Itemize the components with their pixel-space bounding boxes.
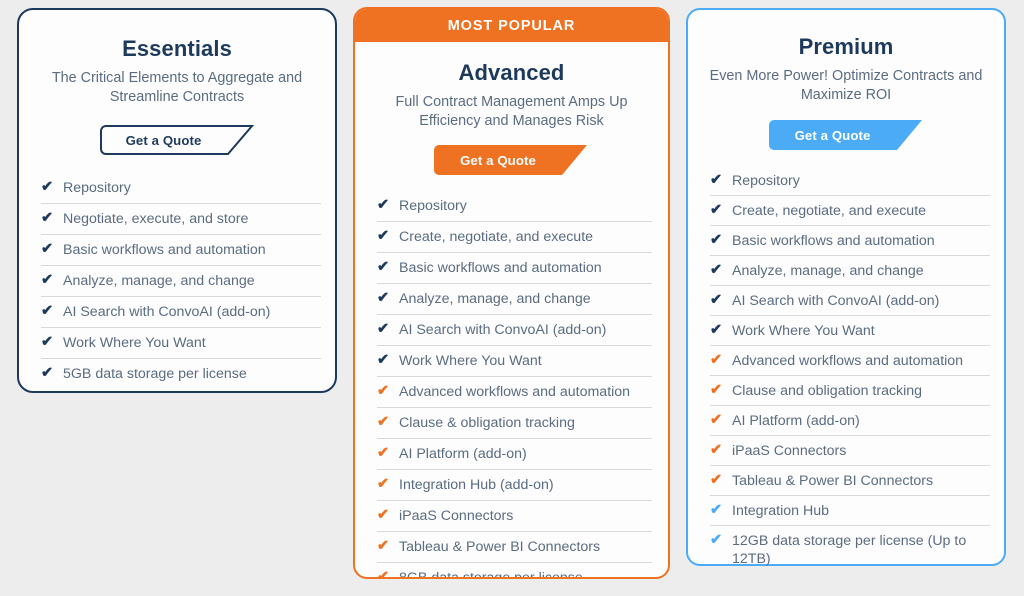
check-icon: ✔ — [710, 202, 732, 218]
plan-card-premium: Premium Even More Power! Optimize Contra… — [686, 8, 1006, 566]
plan-subtitle: Even More Power! Optimize Contracts and … — [702, 67, 990, 105]
check-icon: ✔ — [377, 259, 399, 275]
check-icon: ✔ — [710, 382, 732, 398]
feature-item: ✔Basic workflows and automation — [377, 252, 652, 283]
check-icon: ✔ — [41, 334, 63, 350]
feature-label: AI Search with ConvoAI (add-on) — [399, 321, 606, 339]
feature-item: ✔AI Platform (add-on) — [710, 405, 990, 435]
feature-label: Tableau & Power BI Connectors — [732, 472, 933, 490]
check-icon: ✔ — [377, 197, 399, 213]
check-icon: ✔ — [710, 412, 732, 428]
plan-header-premium: Premium Even More Power! Optimize Contra… — [688, 10, 1004, 105]
feature-item: ✔Advanced workflows and automation — [377, 376, 652, 407]
feature-item: ✔Advanced workflows and automation — [710, 345, 990, 375]
feature-item: ✔iPaaS Connectors — [710, 435, 990, 465]
get-a-quote-button-premium[interactable]: Get a Quote — [769, 120, 924, 150]
feature-item: ✔Basic workflows and automation — [41, 234, 321, 265]
check-icon: ✔ — [377, 445, 399, 461]
feature-list-premium: ✔Repository✔Create, negotiate, and execu… — [710, 166, 990, 573]
plan-title: Premium — [702, 34, 990, 60]
feature-item: ✔Repository — [41, 173, 321, 203]
button-ribbon-shape — [100, 125, 255, 155]
feature-label: Analyze, manage, and change — [399, 290, 591, 308]
check-icon: ✔ — [710, 322, 732, 338]
feature-label: Repository — [399, 197, 467, 215]
check-icon: ✔ — [710, 292, 732, 308]
feature-item: ✔Clause and obligation tracking — [710, 375, 990, 405]
plan-header-essentials: Essentials The Critical Elements to Aggr… — [19, 10, 335, 107]
plan-card-advanced: MOST POPULAR Advanced Full Contract Mana… — [353, 7, 670, 579]
check-icon: ✔ — [710, 532, 732, 548]
feature-item: ✔Clause & obligation tracking — [377, 407, 652, 438]
plan-header-advanced: Advanced Full Contract Management Amps U… — [355, 42, 668, 131]
feature-item: ✔8GB data storage per license — [377, 562, 652, 579]
check-icon: ✔ — [41, 303, 63, 319]
feature-item: ✔Create, negotiate, and execute — [377, 221, 652, 252]
feature-item: ✔Repository — [710, 166, 990, 195]
get-a-quote-button-essentials[interactable]: Get a Quote — [100, 125, 255, 155]
check-icon: ✔ — [710, 352, 732, 368]
feature-label: Repository — [732, 172, 800, 190]
most-popular-badge: MOST POPULAR — [355, 9, 668, 42]
feature-label: iPaaS Connectors — [732, 442, 846, 460]
feature-label: Tableau & Power BI Connectors — [399, 538, 600, 556]
plan-title: Essentials — [33, 36, 321, 62]
check-icon: ✔ — [41, 210, 63, 226]
feature-label: Clause and obligation tracking — [732, 382, 922, 400]
check-icon: ✔ — [41, 241, 63, 257]
feature-item: ✔Work Where You Want — [41, 327, 321, 358]
button-ribbon-shape — [434, 145, 589, 175]
feature-label: Advanced workflows and automation — [399, 383, 630, 401]
feature-item: ✔Basic workflows and automation — [710, 225, 990, 255]
feature-label: Create, negotiate, and execute — [732, 202, 926, 220]
feature-item: ✔Tableau & Power BI Connectors — [710, 465, 990, 495]
feature-label: AI Platform (add-on) — [732, 412, 860, 430]
check-icon: ✔ — [710, 472, 732, 488]
feature-label: Advanced workflows and automation — [732, 352, 963, 370]
plan-title: Advanced — [369, 60, 654, 86]
check-icon: ✔ — [377, 383, 399, 399]
feature-item: ✔Create, negotiate, and execute — [710, 195, 990, 225]
feature-item: ✔Integration Hub — [710, 495, 990, 525]
check-icon: ✔ — [377, 538, 399, 554]
check-icon: ✔ — [710, 172, 732, 188]
feature-label: Create, negotiate, and execute — [399, 228, 593, 246]
feature-label: AI Search with ConvoAI (add-on) — [63, 303, 270, 321]
feature-label: Work Where You Want — [63, 334, 206, 352]
feature-label: Basic workflows and automation — [732, 232, 935, 250]
check-icon: ✔ — [710, 262, 732, 278]
check-icon: ✔ — [710, 232, 732, 248]
check-icon: ✔ — [41, 272, 63, 288]
check-icon: ✔ — [377, 569, 399, 579]
feature-item: ✔Work Where You Want — [377, 345, 652, 376]
check-icon: ✔ — [377, 321, 399, 337]
feature-item: ✔5GB data storage per license — [41, 358, 321, 389]
feature-label: Basic workflows and automation — [399, 259, 602, 277]
feature-label: Analyze, manage, and change — [732, 262, 924, 280]
check-icon: ✔ — [377, 290, 399, 306]
check-icon: ✔ — [377, 414, 399, 430]
feature-label: 12GB data storage per license (Up to 12T… — [732, 532, 990, 568]
pricing-plans-container: Essentials The Critical Elements to Aggr… — [0, 0, 1024, 596]
feature-item: ✔Repository — [377, 191, 652, 221]
feature-item: ✔Integration Hub (add-on) — [377, 469, 652, 500]
feature-item: ✔Negotiate, execute, and store — [41, 203, 321, 234]
feature-label: AI Platform (add-on) — [399, 445, 527, 463]
feature-label: Analyze, manage, and change — [63, 272, 255, 290]
feature-label: 5GB data storage per license — [63, 365, 247, 383]
plan-subtitle: The Critical Elements to Aggregate and S… — [33, 69, 321, 107]
feature-item: ✔Tableau & Power BI Connectors — [377, 531, 652, 562]
feature-item: ✔AI Search with ConvoAI (add-on) — [710, 285, 990, 315]
feature-item: ✔AI Platform (add-on) — [377, 438, 652, 469]
check-icon: ✔ — [710, 442, 732, 458]
feature-item: ✔AI Search with ConvoAI (add-on) — [377, 314, 652, 345]
feature-item: ✔Analyze, manage, and change — [710, 255, 990, 285]
check-icon: ✔ — [41, 179, 63, 195]
feature-item: ✔Analyze, manage, and change — [377, 283, 652, 314]
feature-label: AI Search with ConvoAI (add-on) — [732, 292, 939, 310]
feature-label: Work Where You Want — [732, 322, 875, 340]
feature-label: Work Where You Want — [399, 352, 542, 370]
feature-list-essentials: ✔Repository✔Negotiate, execute, and stor… — [41, 173, 321, 389]
feature-item: ✔AI Search with ConvoAI (add-on) — [41, 296, 321, 327]
check-icon: ✔ — [710, 502, 732, 518]
feature-label: Integration Hub (add-on) — [399, 476, 554, 494]
check-icon: ✔ — [377, 476, 399, 492]
feature-label: Repository — [63, 179, 131, 197]
get-a-quote-button-advanced[interactable]: Get a Quote — [434, 145, 589, 175]
feature-label: Negotiate, execute, and store — [63, 210, 248, 228]
feature-item: ✔Work Where You Want — [710, 315, 990, 345]
feature-label: iPaaS Connectors — [399, 507, 513, 525]
feature-label: 8GB data storage per license — [399, 569, 583, 579]
plan-subtitle: Full Contract Management Amps Up Efficie… — [369, 93, 654, 131]
check-icon: ✔ — [41, 365, 63, 381]
check-icon: ✔ — [377, 352, 399, 368]
feature-label: Integration Hub — [732, 502, 829, 520]
check-icon: ✔ — [377, 507, 399, 523]
plan-card-essentials: Essentials The Critical Elements to Aggr… — [17, 8, 337, 393]
feature-item: ✔12GB data storage per license (Up to 12… — [710, 525, 990, 573]
feature-list-advanced: ✔Repository✔Create, negotiate, and execu… — [377, 191, 652, 579]
feature-item: ✔Analyze, manage, and change — [41, 265, 321, 296]
feature-item: ✔iPaaS Connectors — [377, 500, 652, 531]
feature-label: Basic workflows and automation — [63, 241, 266, 259]
button-ribbon-shape — [769, 120, 924, 150]
feature-label: Clause & obligation tracking — [399, 414, 575, 432]
check-icon: ✔ — [377, 228, 399, 244]
